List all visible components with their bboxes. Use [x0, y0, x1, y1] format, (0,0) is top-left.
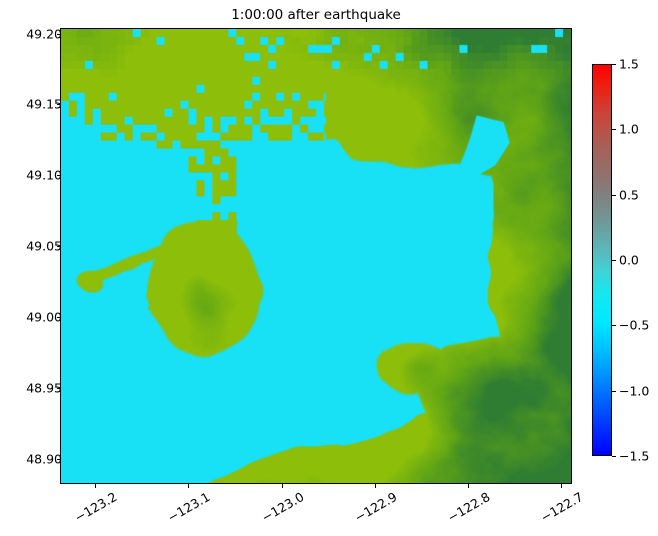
xtick-label: −122.7 [538, 489, 586, 525]
ytick-label: 49.00 [26, 309, 62, 324]
ytick-label: 49.20 [26, 26, 62, 41]
matplotlib-figure: 1:00:00 after earthquake 48.9048.9549.00… [0, 0, 658, 536]
colorbar-tick-mark [612, 195, 616, 196]
ytick-label: 49.05 [26, 239, 62, 254]
xtick-mark [375, 484, 376, 488]
colorbar-tick-mark [612, 325, 616, 326]
ytick-label: 48.95 [26, 380, 62, 395]
xtick-label: −123.2 [72, 489, 120, 525]
xtick-mark [468, 484, 469, 488]
xtick-label: −122.9 [352, 489, 400, 525]
colorbar-tick-label: 0.0 [619, 253, 639, 268]
xtick-label: −123.0 [258, 489, 306, 525]
colorbar-tick-mark [612, 456, 616, 457]
xtick-label: −122.8 [445, 489, 493, 525]
colorbar-tick-label: 0.5 [619, 187, 639, 202]
colorbar-gradient [592, 64, 612, 456]
ytick-label: 49.10 [26, 168, 62, 183]
colorbar-tick-mark [612, 64, 616, 65]
colorbar-tick-label: −1.0 [619, 383, 649, 398]
colorbar-tick-label: −1.5 [619, 449, 649, 464]
colorbar-tick-label: −0.5 [619, 318, 649, 333]
colorbar-tick-label: 1.5 [619, 57, 639, 72]
colorbar-tick-mark [612, 260, 616, 261]
map-axes [60, 28, 572, 484]
xtick-mark [282, 484, 283, 488]
xtick-mark [95, 484, 96, 488]
colorbar-tick-mark [612, 129, 616, 130]
colorbar-tick-mark [612, 391, 616, 392]
xtick-label: −123.1 [165, 489, 213, 525]
colorbar-tick-label: 1.0 [619, 122, 639, 137]
terrain-heatmap-image [61, 29, 571, 483]
ytick-label: 48.90 [26, 451, 62, 466]
ytick-label: 49.15 [26, 97, 62, 112]
xtick-mark [188, 484, 189, 488]
xtick-mark [561, 484, 562, 488]
plot-title: 1:00:00 after earthquake [60, 6, 572, 24]
